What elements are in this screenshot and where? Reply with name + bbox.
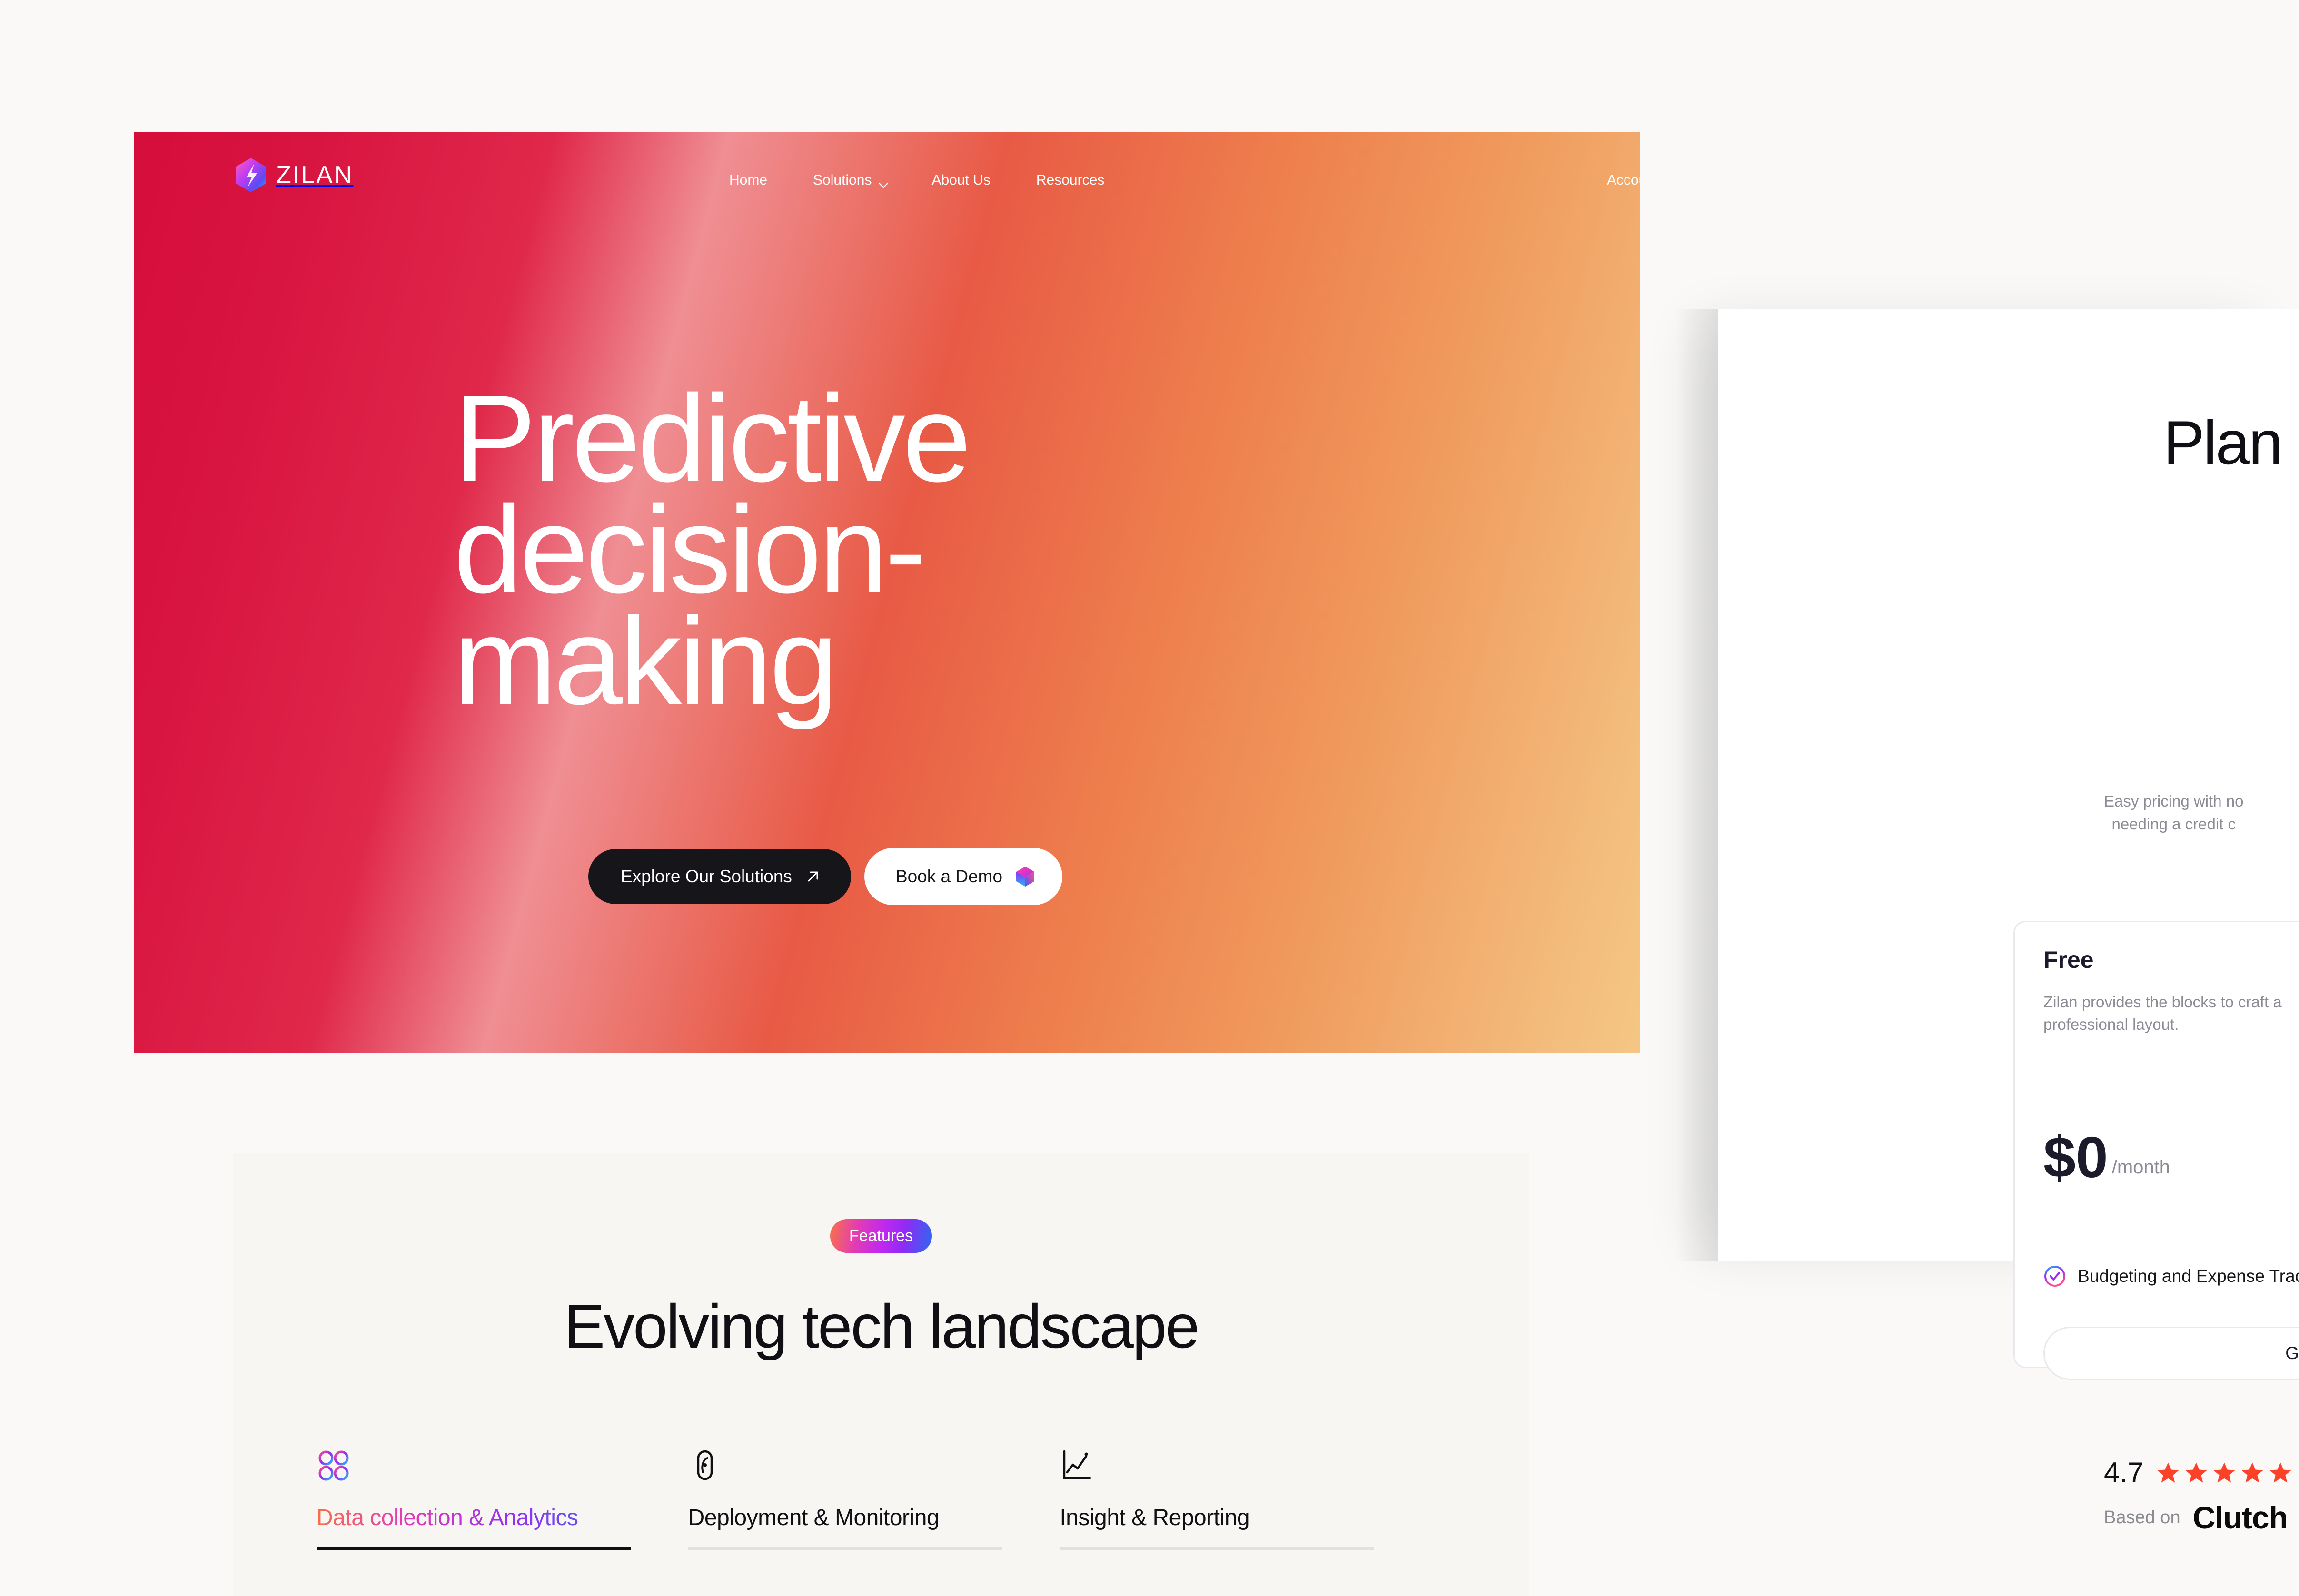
tab-data-collection-analytics-label: Data collection & Analytics <box>317 1505 703 1531</box>
explore-our-solutions-button[interactable]: Explore Our Solutions <box>588 849 851 904</box>
price-amount: $0 <box>2043 1132 2108 1184</box>
nav-item-home-label: Home <box>729 172 767 188</box>
nav-item-resources-label: Resources <box>1036 172 1104 188</box>
features-tabs: Data collection & Analytics Deployment &… <box>317 1448 1446 1531</box>
explore-our-solutions-label: Explore Our Solutions <box>621 867 792 887</box>
pricing-card-free: Free Zilan provides the blocks to craft … <box>2013 921 2299 1368</box>
nav-item-solutions[interactable]: Solutions <box>790 172 909 188</box>
book-a-demo-button[interactable]: Book a Demo <box>864 848 1062 905</box>
chevron-down-icon <box>878 177 886 184</box>
nav-item-resources[interactable]: Resources <box>1013 172 1127 188</box>
star-icon <box>2240 1460 2265 1485</box>
tab-data-collection-analytics[interactable]: Data collection & Analytics <box>317 1448 703 1531</box>
line-chart-icon <box>1060 1448 1446 1482</box>
pricing-subtitle: Easy pricing with no needing a credit c <box>2104 790 2243 836</box>
tagline-2: Empowering businesses with data insights… <box>865 1050 1097 1053</box>
hero-cta-row: Explore Our Solutions Book a Demo <box>588 848 1062 905</box>
clutch-wordmark: Clutch <box>2193 1499 2288 1536</box>
rating-bottom-row: Based on Clutch <box>2104 1499 2293 1536</box>
zilan-hexagon-logo-icon <box>236 158 266 192</box>
star-icon <box>2184 1460 2209 1485</box>
hero-headline: Predictive decision- making <box>454 383 969 717</box>
tab-underline-active <box>317 1547 631 1550</box>
book-a-demo-label: Book a Demo <box>896 867 1002 887</box>
rocket-capsule-icon <box>688 1448 1074 1482</box>
cube-icon <box>1015 866 1036 887</box>
get-started-now-button[interactable]: Get Started Now <box>2043 1327 2299 1380</box>
tab-deployment-monitoring[interactable]: Deployment & Monitoring <box>688 1448 1074 1531</box>
check-circle-icon <box>2043 1265 2066 1288</box>
features-badge: Features <box>830 1219 932 1253</box>
plan-feature-row: Budgeting and Expense Tracking <box>2043 1265 2299 1288</box>
rating-stars <box>2156 1460 2293 1485</box>
features-title: Evolving tech landscape <box>233 1291 1529 1362</box>
tab-underline <box>1060 1547 1374 1550</box>
hero-taglines: Transforming tomorrow with AI-Powered in… <box>367 1050 1595 1053</box>
nav-links: Home Solutions About Us Resources <box>706 172 1127 188</box>
star-icon <box>2212 1460 2237 1485</box>
tab-insight-reporting[interactable]: Insight & Reporting <box>1060 1448 1446 1531</box>
plan-name: Free <box>2043 946 2094 974</box>
pricing-panel: Plan Easy pricing with no needing a cred… <box>1718 309 2299 1261</box>
pricing-title: Plan <box>2163 407 2281 478</box>
brand-logo-link[interactable]: ZILAN <box>236 158 353 192</box>
price-row: $0 /month <box>2043 1132 2170 1184</box>
features-badge-wrap: Features <box>233 1219 1529 1253</box>
nav-item-about-us-label: About Us <box>931 172 990 188</box>
top-navbar: ZILAN Home Solutions About Us Resources … <box>134 132 1640 227</box>
rating-top-row: 4.7 <box>2104 1456 2293 1489</box>
plan-description: Zilan provides the blocks to craft a pro… <box>2043 991 2299 1036</box>
star-icon <box>2156 1460 2180 1485</box>
nav-item-solutions-label: Solutions <box>813 172 872 188</box>
hero-section: ZILAN Home Solutions About Us Resources … <box>134 132 1640 1053</box>
grid-dots-icon <box>317 1448 703 1482</box>
arrow-up-right-icon <box>804 868 822 885</box>
rating-score: 4.7 <box>2104 1456 2143 1489</box>
nav-item-about-us[interactable]: About Us <box>909 172 1013 188</box>
nav-item-home[interactable]: Home <box>706 172 790 188</box>
based-on-label: Based on <box>2104 1507 2180 1528</box>
tagline-1: Transforming tomorrow with AI-Powered in… <box>367 1050 599 1053</box>
features-section: Features Evolving tech landscape Data c <box>233 1153 1529 1596</box>
star-icon <box>2268 1460 2293 1485</box>
price-period: /month <box>2112 1157 2170 1184</box>
tab-insight-reporting-label: Insight & Reporting <box>1060 1505 1446 1531</box>
plan-feature-label: Budgeting and Expense Tracking <box>2078 1266 2299 1286</box>
clutch-rating-widget: 4.7 Based on Clutch <box>2104 1456 2293 1536</box>
brand-name: ZILAN <box>276 161 353 189</box>
account-link[interactable]: Account <box>1607 172 1640 188</box>
tab-deployment-monitoring-label: Deployment & Monitoring <box>688 1505 1074 1531</box>
tagline-3: We built to revolutionize industries and… <box>1363 1050 1595 1053</box>
tab-underline <box>688 1547 1002 1550</box>
